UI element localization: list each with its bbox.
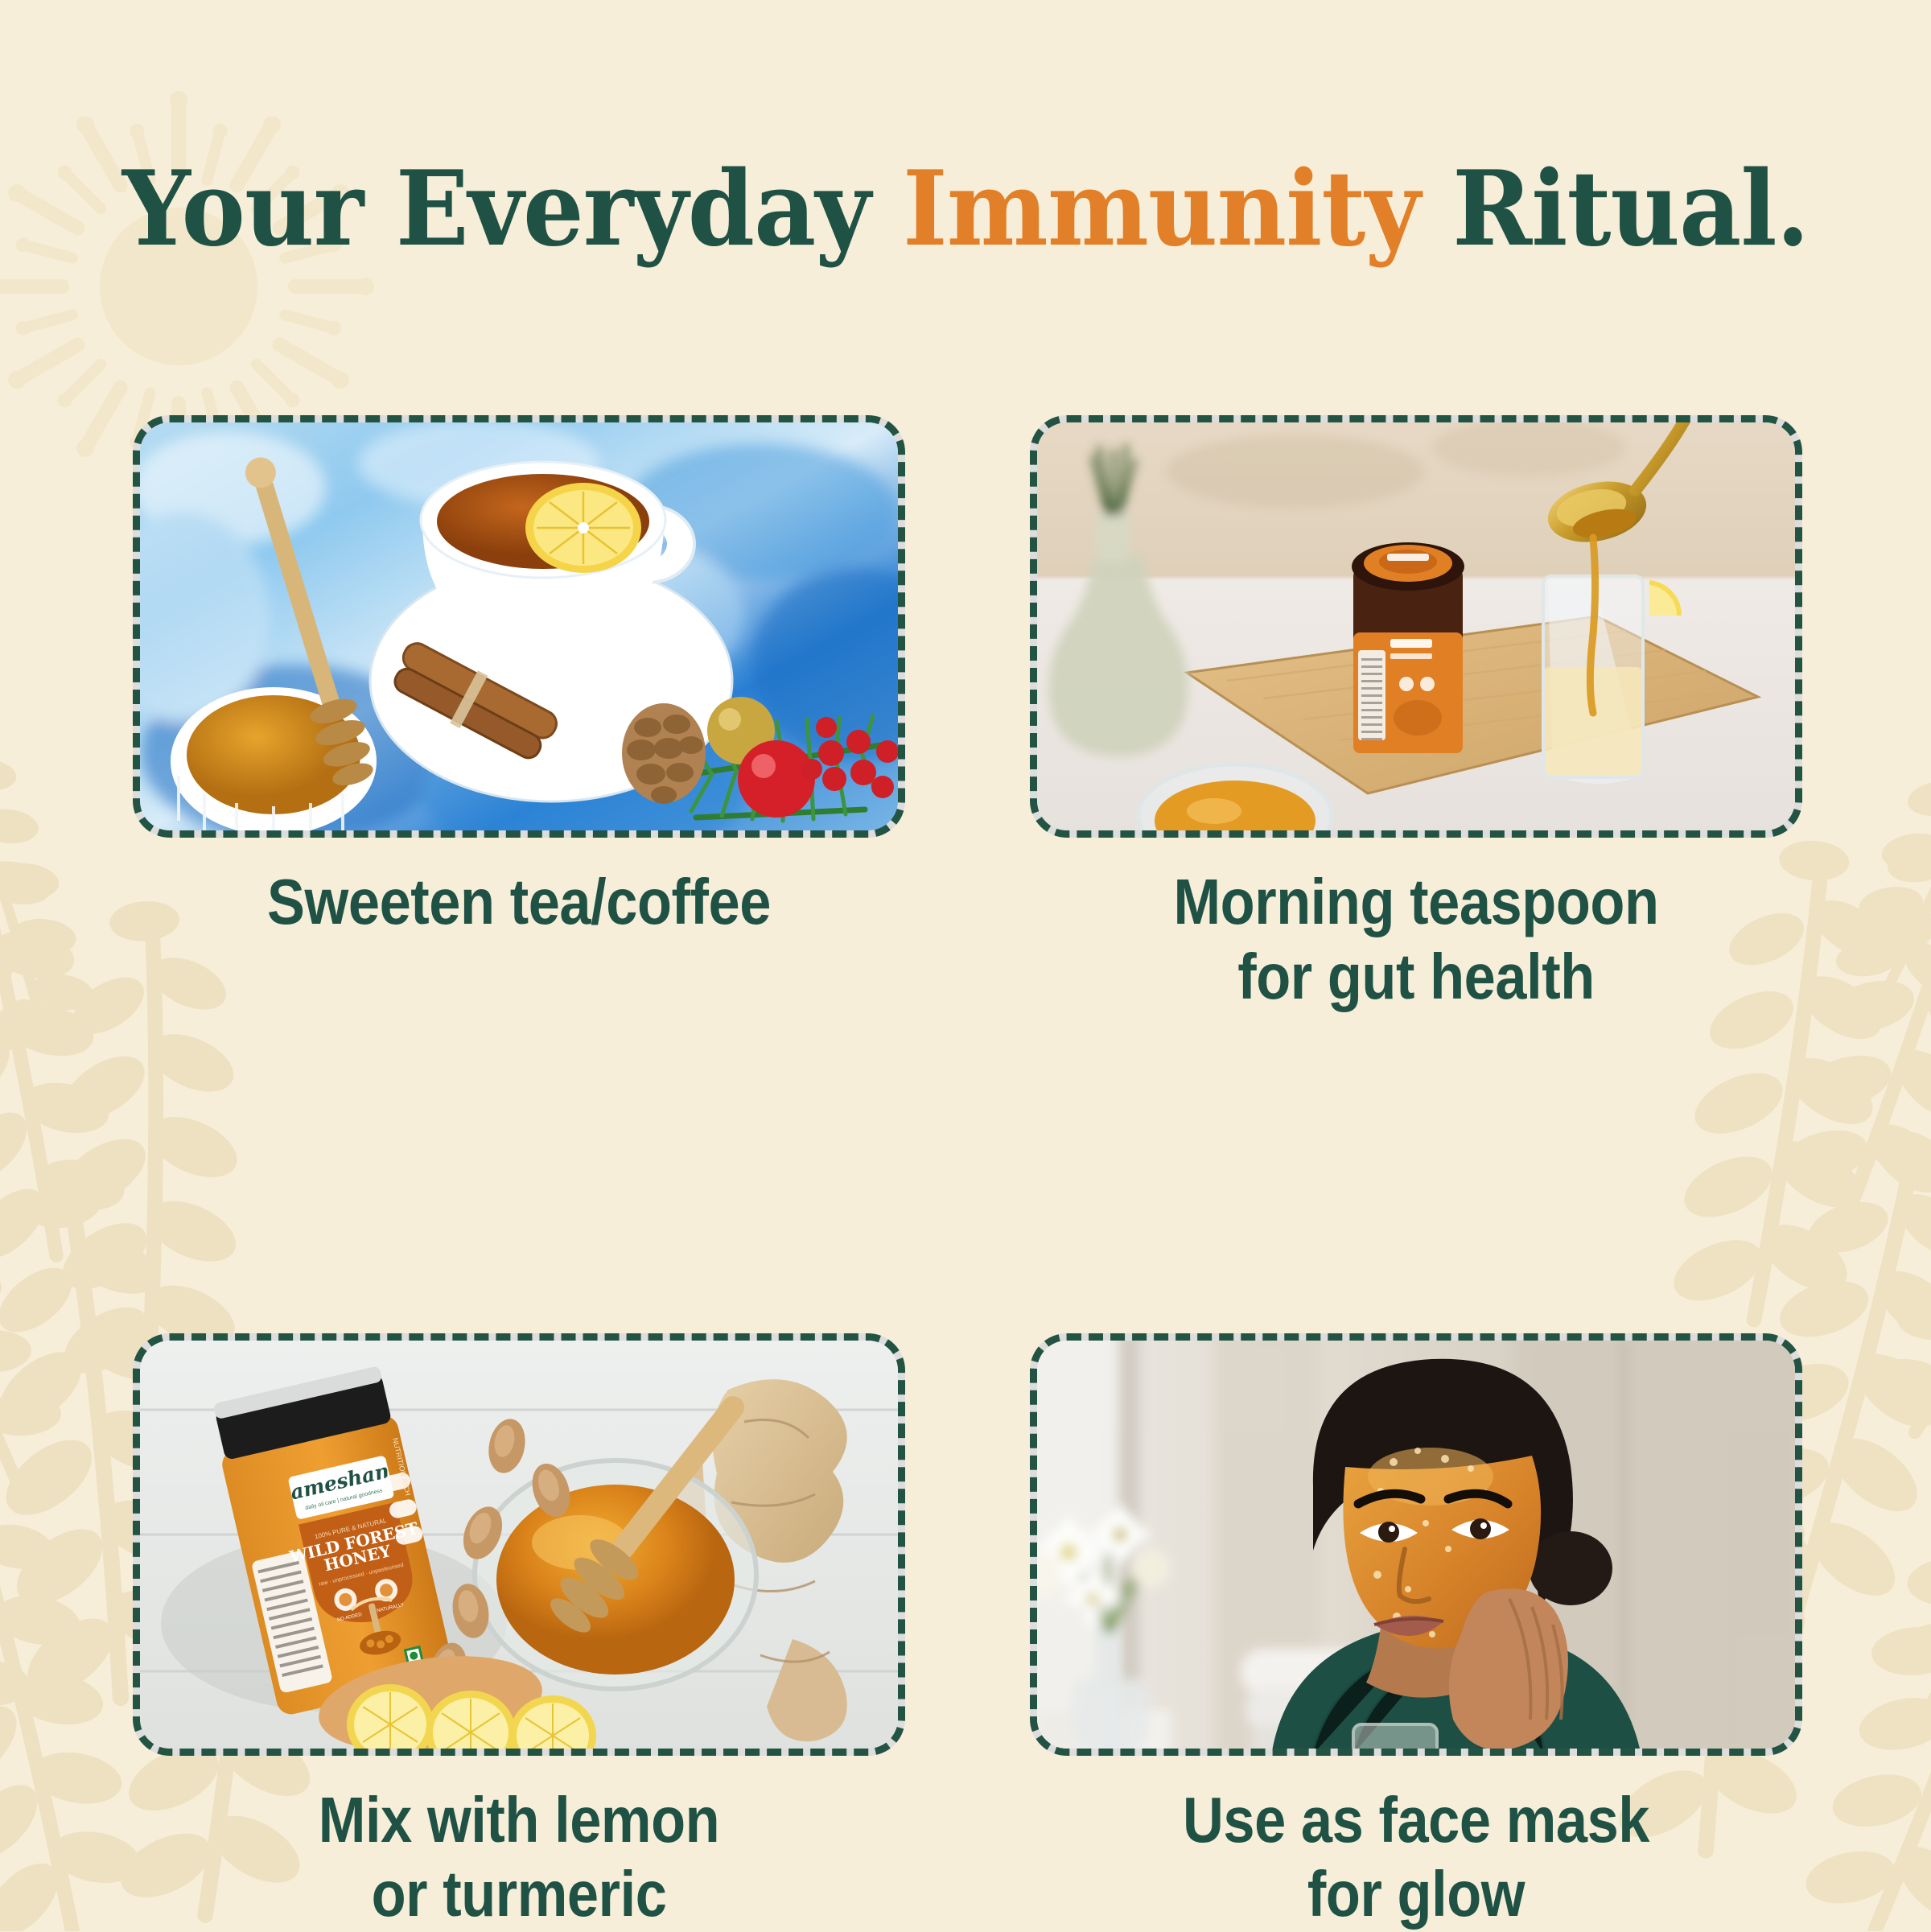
card-sweeten-tea-coffee[interactable]: Sweeten tea/coffee bbox=[133, 415, 905, 1015]
caption-line: for gut health bbox=[1077, 940, 1756, 1015]
caption-line: Use as face mask bbox=[1077, 1783, 1756, 1858]
caption-line: or turmeric bbox=[179, 1857, 859, 1932]
title-part-2: Ritual. bbox=[1420, 149, 1809, 270]
page-title: Your Everyday Immunity Ritual. bbox=[68, 158, 1863, 261]
caption-line: for glow bbox=[1077, 1857, 1756, 1932]
card-mix-with-lemon-turmeric[interactable]: ameshan daily oil care | natural goodnes… bbox=[133, 1333, 905, 1932]
woman-applying-turmeric-honey-face-mask-photo bbox=[1030, 1333, 1802, 1756]
title-part-1: Your Everyday bbox=[122, 149, 903, 270]
card-caption: Use as face mask for glow bbox=[1077, 1783, 1756, 1932]
honey-jar-spoon-pouring-into-glass-photo bbox=[1030, 415, 1802, 838]
photo-frame bbox=[1030, 1333, 1802, 1756]
card-caption: Mix with lemon or turmeric bbox=[179, 1783, 859, 1932]
photo-frame bbox=[133, 415, 905, 838]
caption-line: Sweeten tea/coffee bbox=[179, 865, 859, 940]
card-morning-teaspoon-gut-health[interactable]: Morning teaspoon for gut health bbox=[1030, 415, 1802, 1015]
card-row-1: Sweeten tea/coffee bbox=[133, 415, 1802, 1015]
photo-frame bbox=[1030, 415, 1802, 838]
card-face-mask-for-glow[interactable]: Use as face mask for glow bbox=[1030, 1333, 1802, 1932]
card-caption: Sweeten tea/coffee bbox=[179, 865, 859, 940]
card-row-2: ameshan daily oil care | natural goodnes… bbox=[133, 1333, 1802, 1932]
photo-frame: ameshan daily oil care | natural goodnes… bbox=[133, 1333, 905, 1756]
caption-line: Mix with lemon bbox=[179, 1783, 859, 1858]
wild-forest-honey-jar-ginger-lemon-almonds-photo: ameshan daily oil care | natural goodnes… bbox=[133, 1333, 905, 1756]
card-caption: Morning teaspoon for gut health bbox=[1077, 865, 1756, 1015]
infographic-page: Your Everyday Immunity Ritual. bbox=[0, 0, 1931, 1931]
caption-line: Morning teaspoon bbox=[1077, 865, 1756, 940]
tea-cup-with-lemon-honey-bowl-cinnamon-photo bbox=[133, 415, 905, 838]
benefit-cards-grid: Sweeten tea/coffee bbox=[133, 415, 1802, 1932]
title-highlight-immunity: Immunity bbox=[903, 149, 1420, 270]
